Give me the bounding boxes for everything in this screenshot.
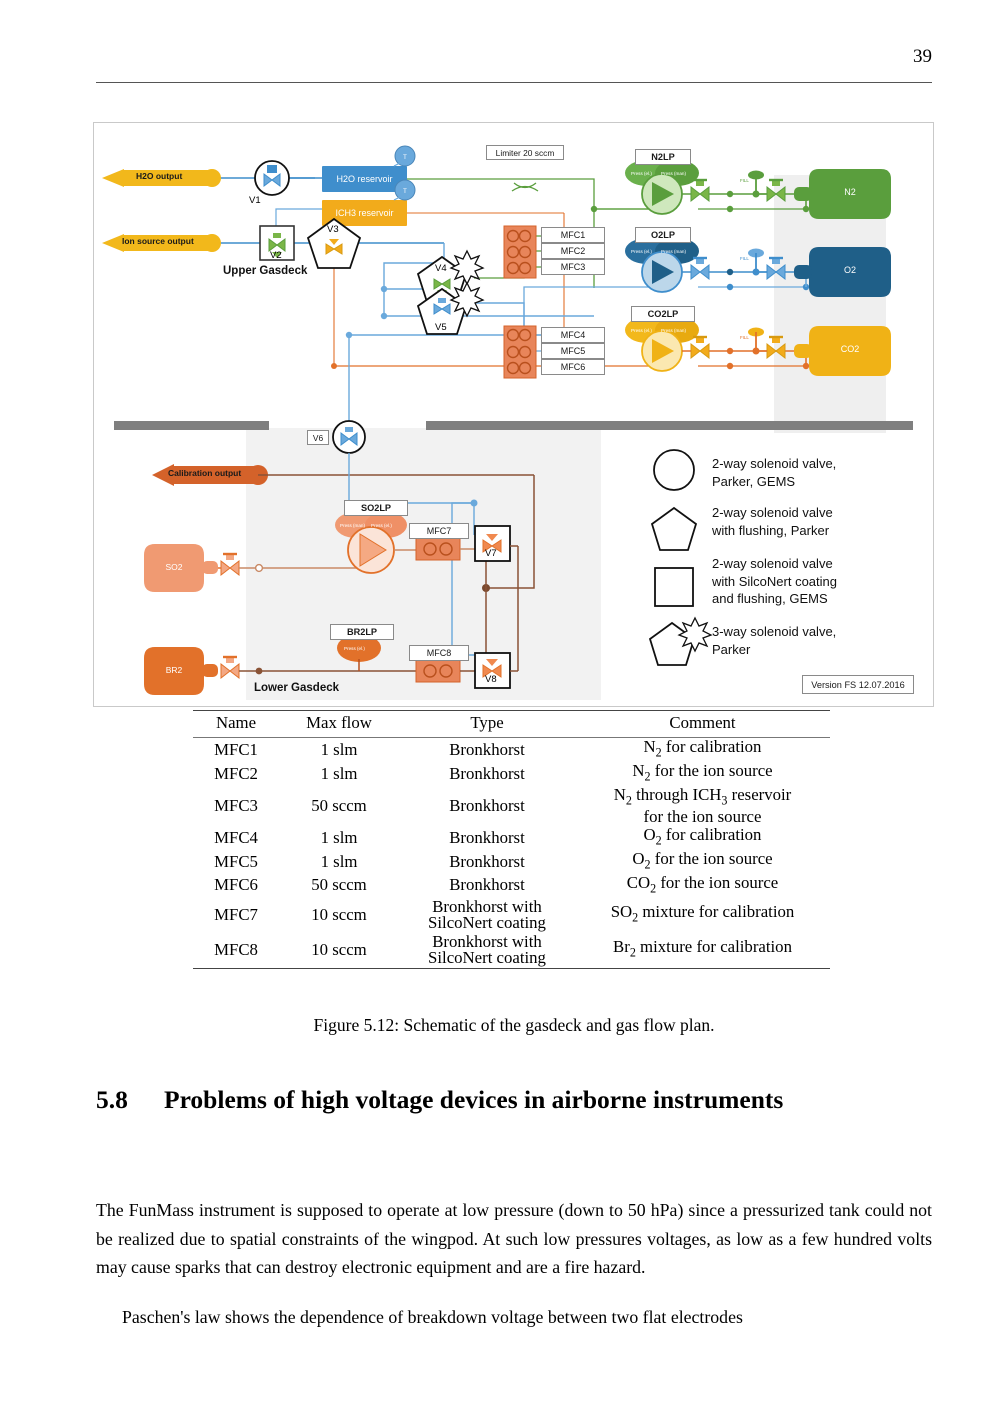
cell-comment: O2 for the ion source [575, 850, 830, 874]
legend-text-pentagon-star: 3-way solenoid valve, Parker [712, 623, 917, 658]
mfc-label-MFC2: MFC2 [541, 243, 605, 259]
legend-text-circle: 2-way solenoid valve, Parker, GEMS [712, 455, 917, 490]
table-row: MFC710 sccmBronkhorst withSilcoNert coat… [193, 898, 830, 933]
gas-bottle-label-O2: O2 [809, 265, 891, 275]
cell-max-flow: 1 slm [279, 738, 399, 762]
pressure-reducer-N2LP [625, 160, 794, 214]
valve-label-V6: V6 [307, 430, 329, 445]
cell-max-flow: 50 sccm [279, 874, 399, 898]
cell-type: Bronkhorst [399, 738, 575, 762]
mfc-stack-upper [504, 226, 536, 278]
lp-label-N2LP: N2LP [635, 149, 691, 165]
cell-name: MFC1 [193, 738, 279, 762]
cell-type: Bronkhorst [399, 762, 575, 786]
fill-label-co2: FILL [740, 335, 749, 340]
pressure-reducer-O2LP [625, 238, 794, 292]
cell-name: MFC6 [193, 874, 279, 898]
cell-comment: N2 through ICH3 reservoirfor the ion sou… [575, 786, 830, 826]
lp-label-SO2LP: SO2LP [344, 500, 408, 516]
body-paragraph-1: The FunMass instrument is supposed to op… [96, 1196, 932, 1282]
cell-name: MFC4 [193, 826, 279, 850]
ion-source-output-label: Ion source output [122, 237, 194, 246]
header-rule [96, 82, 932, 83]
cell-max-flow: 1 slm [279, 826, 399, 850]
page-number: 39 [913, 46, 932, 68]
deck-bar-left [114, 421, 269, 430]
pressure-reducer-CO2LP [625, 317, 794, 371]
cell-type: Bronkhorst [399, 850, 575, 874]
table-row: MFC41 slmBronkhorstO2 for calibration [193, 826, 830, 850]
figure-gasdeck-schematic: T T [93, 122, 934, 707]
table-row: MFC51 slmBronkhorstO2 for the ion source [193, 850, 830, 874]
cell-type: Bronkhorst [399, 874, 575, 898]
svg-text:T: T [403, 155, 407, 161]
cell-comment: N2 for calibration [575, 738, 830, 762]
col-header-type: Type [399, 711, 575, 738]
lower-gasdeck-label: Lower Gasdeck [254, 683, 339, 695]
cell-comment: O2 for calibration [575, 826, 830, 850]
lp-label-CO2LP: CO2LP [631, 306, 695, 322]
deck-bar-right [426, 421, 913, 430]
valve-label-V5: V5 [435, 322, 447, 333]
table-row: MFC11 slmBronkhorstN2 for calibration [193, 738, 830, 762]
valve-label-V8: V8 [485, 674, 497, 685]
cell-comment: CO2 for the ion source [575, 874, 830, 898]
press-el-label-o2: Press (el.) [631, 249, 652, 254]
valve-label-V4: V4 [435, 263, 447, 274]
mfc-label-MFC8: MFC8 [409, 645, 469, 661]
gas-bottle-label-CO2: CO2 [809, 344, 891, 354]
legend-circle-icon [654, 450, 694, 490]
cell-max-flow: 1 slm [279, 850, 399, 874]
col-header-max-flow: Max flow [279, 711, 399, 738]
cell-name: MFC7 [193, 898, 279, 933]
page-header: 39 [96, 46, 932, 86]
mfc-stack-lower [504, 326, 536, 378]
press-man-label-so2: Press (man) [340, 523, 365, 528]
cell-name: MFC8 [193, 933, 279, 969]
cell-max-flow: 10 sccm [279, 933, 399, 969]
cell-name: MFC2 [193, 762, 279, 786]
press-man-label-n2: Press (man) [661, 171, 686, 176]
limiter-label: Limiter 20 sccm [486, 145, 564, 160]
version-tag: Version FS 12.07.2016 [802, 675, 914, 694]
lp-label-O2LP: O2LP [635, 227, 691, 243]
mfc-label-MFC6: MFC6 [541, 359, 605, 375]
valve-label-V1: V1 [249, 195, 261, 206]
press-man-label-o2: Press (man) [661, 249, 686, 254]
h2o-output-label: H2O output [136, 172, 182, 181]
section-number: 5.8 [96, 1082, 128, 1118]
table-row: MFC810 sccmBronkhorst withSilcoNert coat… [193, 933, 830, 969]
legend-text-square: 2-way solenoid valve with SilcoNert coat… [712, 555, 927, 608]
mfc-label-MFC4: MFC4 [541, 327, 605, 343]
cell-name: MFC3 [193, 786, 279, 826]
cell-comment: Br2 mixture for calibration [575, 933, 830, 969]
section-heading: 5.8 Problems of high voltage devices in … [96, 1082, 932, 1118]
calibration-output-label: Calibration output [168, 469, 241, 478]
valve-label-V3: V3 [327, 224, 339, 235]
table-row: MFC350 sccmBronkhorstN2 through ICH3 res… [193, 786, 830, 826]
cell-type: Bronkhorst withSilcoNert coating [399, 898, 575, 933]
col-header-name: Name [193, 711, 279, 738]
press-el-label-br2: Press (el.) [344, 646, 365, 651]
ich3-reservoir-label: ICH3 reservoir [322, 208, 407, 218]
valve-V6 [333, 421, 365, 453]
cell-max-flow: 1 slm [279, 762, 399, 786]
mfc-specification-table: Name Max flow Type Comment MFC11 slmBron… [193, 710, 830, 969]
valve-label-V2: V2 [270, 250, 282, 261]
legend-text-pentagon: 2-way solenoid valve with flushing, Park… [712, 504, 917, 539]
press-man-label-co2: Press (man) [661, 328, 686, 333]
gas-bottle-label-SO2: SO2 [144, 562, 204, 572]
press-el-label-so2: Press (el.) [371, 523, 392, 528]
cell-type: Bronkhorst [399, 826, 575, 850]
legend-pentagon-icon [652, 508, 696, 550]
table-header-row: Name Max flow Type Comment [193, 711, 830, 738]
table-row: MFC650 sccmBronkhorstCO2 for the ion sou… [193, 874, 830, 898]
section-title: Problems of high voltage devices in airb… [164, 1082, 932, 1118]
press-el-label-co2: Press (el.) [631, 328, 652, 333]
h2o-reservoir-label: H2O reservoir [322, 174, 407, 184]
lp-label-BR2LP: BR2LP [330, 624, 394, 640]
mfc-label-MFC7: MFC7 [409, 523, 469, 539]
svg-text:T: T [403, 189, 407, 195]
valve-label-V7: V7 [485, 548, 497, 559]
fill-label-n2: FILL [740, 178, 749, 183]
cell-comment: N2 for the ion source [575, 762, 830, 786]
cell-type: Bronkhorst withSilcoNert coating [399, 933, 575, 969]
cell-max-flow: 10 sccm [279, 898, 399, 933]
cell-name: MFC5 [193, 850, 279, 874]
legend-square-icon [655, 568, 693, 606]
table-row: MFC21 slmBronkhorstN2 for the ion source [193, 762, 830, 786]
mfc-label-MFC1: MFC1 [541, 227, 605, 243]
gas-bottle-label-N2: N2 [809, 187, 891, 197]
fill-label-o2: FILL [740, 256, 749, 261]
press-el-label-n2: Press (el.) [631, 171, 652, 176]
cell-max-flow: 50 sccm [279, 786, 399, 826]
figure-caption: Figure 5.12: Schematic of the gasdeck an… [96, 1015, 932, 1036]
gasdeck-diagram: T T [94, 123, 933, 706]
cell-comment: SO2 mixture for calibration [575, 898, 830, 933]
mfc-label-MFC3: MFC3 [541, 259, 605, 275]
col-header-comment: Comment [575, 711, 830, 738]
gas-bottle-label-BR2: BR2 [144, 665, 204, 675]
upper-gasdeck-label: Upper Gasdeck [223, 266, 307, 278]
cell-type: Bronkhorst [399, 786, 575, 826]
body-paragraph-2: Paschen's law shows the dependence of br… [96, 1303, 932, 1332]
mfc-label-MFC5: MFC5 [541, 343, 605, 359]
